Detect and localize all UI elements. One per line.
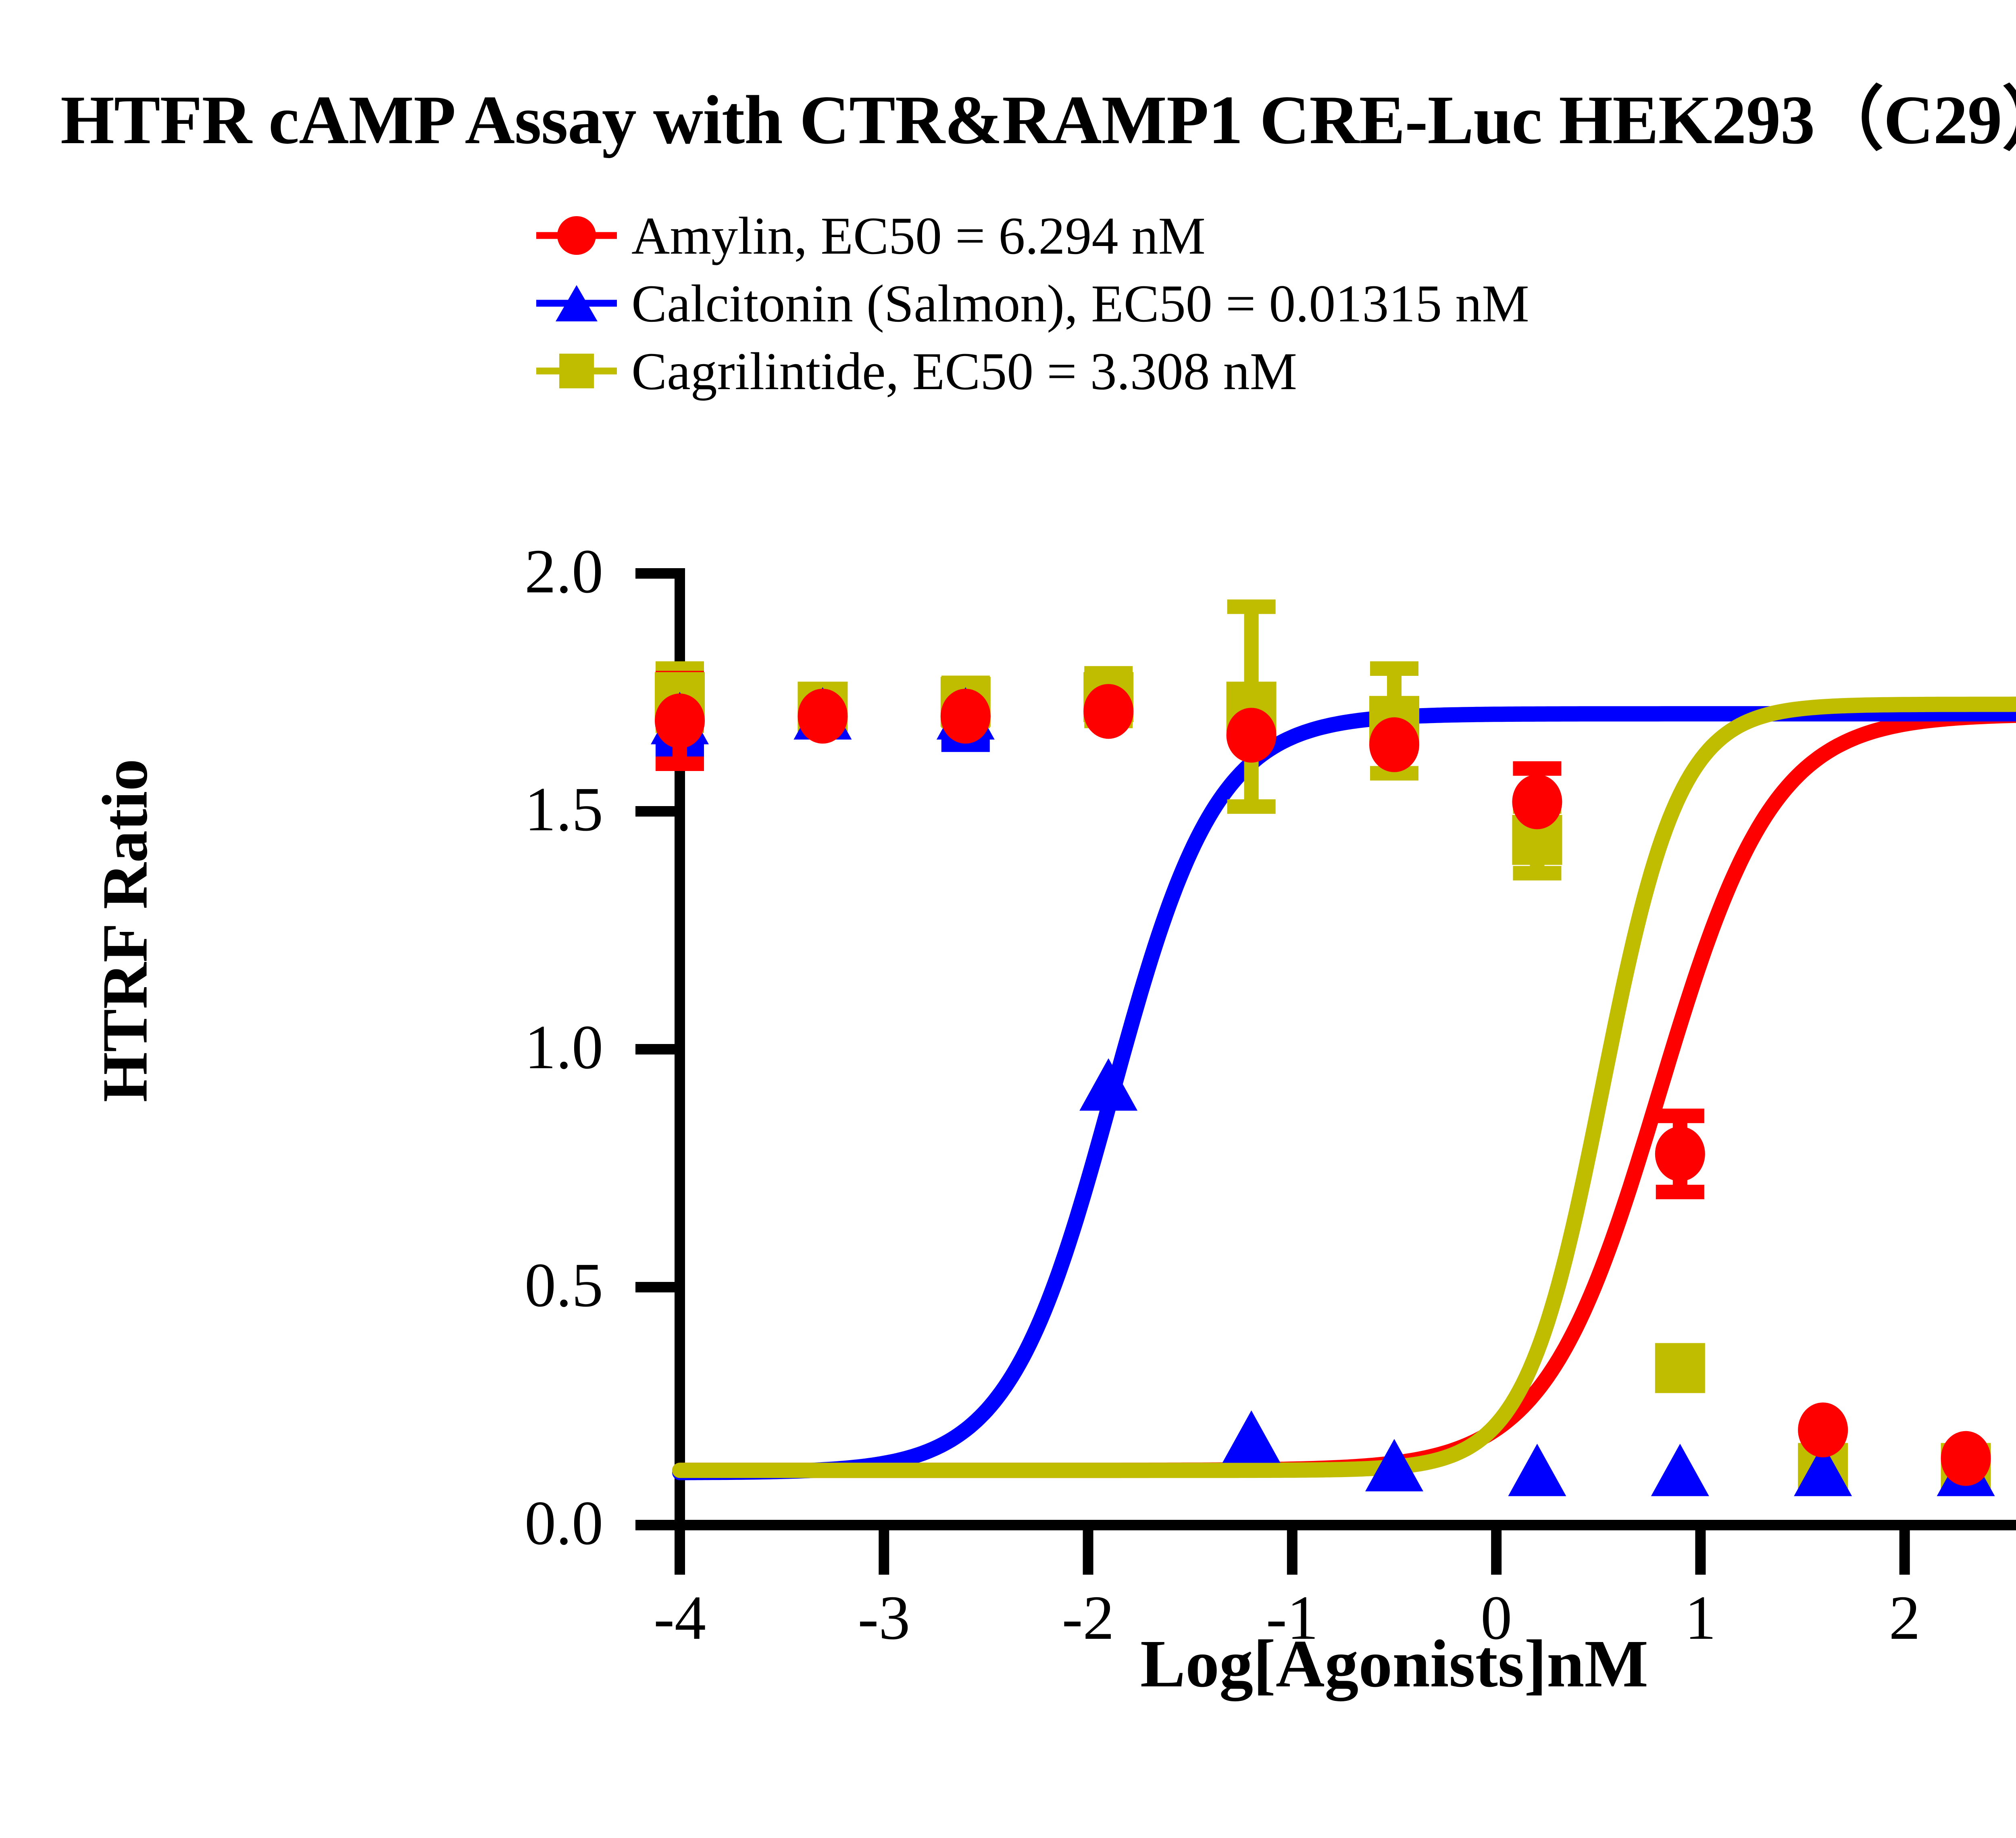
- data-point-circle: [1798, 1402, 1848, 1457]
- y-tick: [635, 568, 680, 579]
- fit-curve-calcitonin--salmon-: [680, 714, 2016, 1473]
- x-tick: [1083, 1530, 1093, 1575]
- data-point-circle: [1655, 1127, 1705, 1182]
- error-bar-cap: [1513, 866, 1561, 880]
- data-point-circle: [798, 689, 848, 744]
- data-point-circle: [1083, 684, 1133, 739]
- data-point-square: [1655, 1343, 1705, 1393]
- x-tick: [1491, 1530, 1502, 1575]
- y-axis-label: HTRF Ratio: [88, 648, 162, 1213]
- data-point-triangle: [1079, 1058, 1137, 1111]
- data-point-triangle: [1223, 1411, 1281, 1463]
- plot-area: HTRF Ratio Log[Agonists]nM 0.00.51.01.52…: [0, 0, 2016, 1838]
- x-axis-line: [675, 1520, 2016, 1530]
- error-bar-cap: [1227, 600, 1276, 614]
- error-bar-cap: [1656, 1185, 1704, 1199]
- x-tick-label: -3: [823, 1582, 944, 1654]
- x-tick: [675, 1530, 685, 1575]
- error-bar-cap: [1513, 761, 1561, 776]
- y-tick: [635, 1282, 680, 1292]
- x-tick: [1695, 1530, 1706, 1575]
- chart-figure: HTFR cAMP Assay with CTR&RAMP1 CRE-Luc H…: [0, 0, 2016, 1838]
- x-tick-label: 2: [1844, 1582, 1965, 1654]
- y-tick-label: 2.0: [377, 535, 603, 608]
- data-point-circle: [1941, 1431, 1991, 1486]
- x-tick-label: -2: [1028, 1582, 1149, 1654]
- data-point-circle: [941, 689, 991, 744]
- data-point-circle: [655, 694, 705, 748]
- y-tick: [635, 806, 680, 817]
- data-point-circle: [1369, 717, 1419, 772]
- error-bar-cap: [656, 756, 704, 771]
- error-bar-cap: [1227, 799, 1276, 814]
- y-tick-label: 1.0: [377, 1011, 603, 1084]
- x-tick-label: 1: [1640, 1582, 1761, 1654]
- x-tick-label: 0: [1436, 1582, 1557, 1654]
- data-point-circle: [1512, 774, 1562, 829]
- data-point-circle: [1227, 708, 1277, 763]
- data-point-triangle: [1508, 1444, 1566, 1496]
- y-tick-label: 1.5: [377, 773, 603, 846]
- y-tick: [635, 1520, 680, 1530]
- x-tick: [1899, 1530, 1910, 1575]
- x-tick: [879, 1530, 889, 1575]
- y-tick: [635, 1044, 680, 1054]
- x-tick-label: -1: [1232, 1582, 1353, 1654]
- y-tick-label: 0.5: [377, 1249, 603, 1321]
- error-bar-cap: [1370, 661, 1418, 676]
- fit-curve-cagrilintide: [680, 704, 2016, 1471]
- error-bar-cap: [1656, 1109, 1704, 1123]
- x-tick: [1287, 1530, 1297, 1575]
- data-point-triangle: [1651, 1444, 1709, 1496]
- fit-curve-amylin: [680, 714, 2016, 1471]
- x-tick-label: -4: [619, 1582, 740, 1654]
- y-tick-label: 0.0: [377, 1487, 603, 1559]
